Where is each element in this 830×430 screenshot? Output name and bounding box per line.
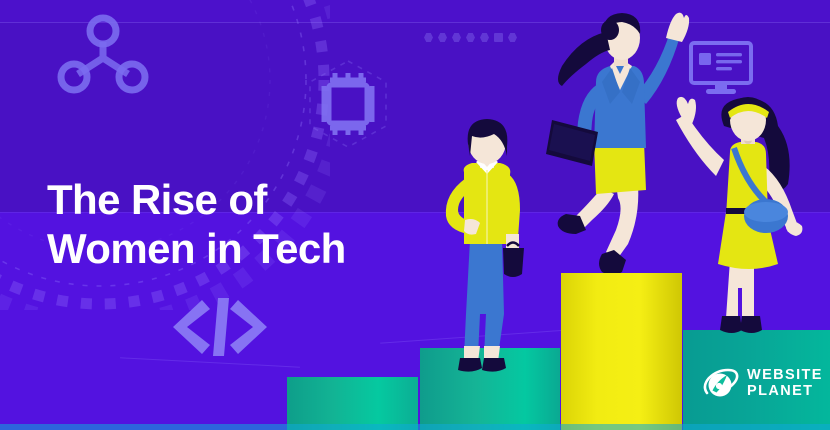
- hex-dot: [438, 33, 447, 42]
- banner: The Rise of Women in Tech WEBSITE PLANET: [0, 0, 830, 430]
- bar-step-1: [287, 377, 418, 430]
- logo-word-2: PLANET: [747, 384, 823, 400]
- figure-right: [668, 92, 818, 344]
- monitor-icon: [688, 40, 754, 100]
- planet-rocket-icon: [703, 366, 739, 402]
- page-title: The Rise of Women in Tech: [47, 175, 447, 273]
- hex-dot: [424, 33, 433, 42]
- hexagon-dot-row: [424, 33, 517, 42]
- hex-dot: [480, 33, 489, 42]
- headline-line-1: The Rise of: [47, 175, 447, 224]
- bar-step-3: [561, 273, 682, 430]
- code-icon: [172, 296, 268, 358]
- podium-baseline: [0, 424, 830, 430]
- logo[interactable]: WEBSITE PLANET: [703, 366, 823, 402]
- logo-word-1: WEBSITE: [747, 368, 823, 384]
- hex-dot: [508, 33, 517, 42]
- network-icon: [48, 12, 158, 98]
- headline-line-2: Women in Tech: [47, 224, 447, 273]
- hex-dot: [452, 33, 461, 42]
- chip-icon: [302, 58, 394, 150]
- hex-dot: [466, 33, 475, 42]
- logo-text: WEBSITE PLANET: [747, 368, 823, 399]
- hex-dot: [494, 33, 503, 42]
